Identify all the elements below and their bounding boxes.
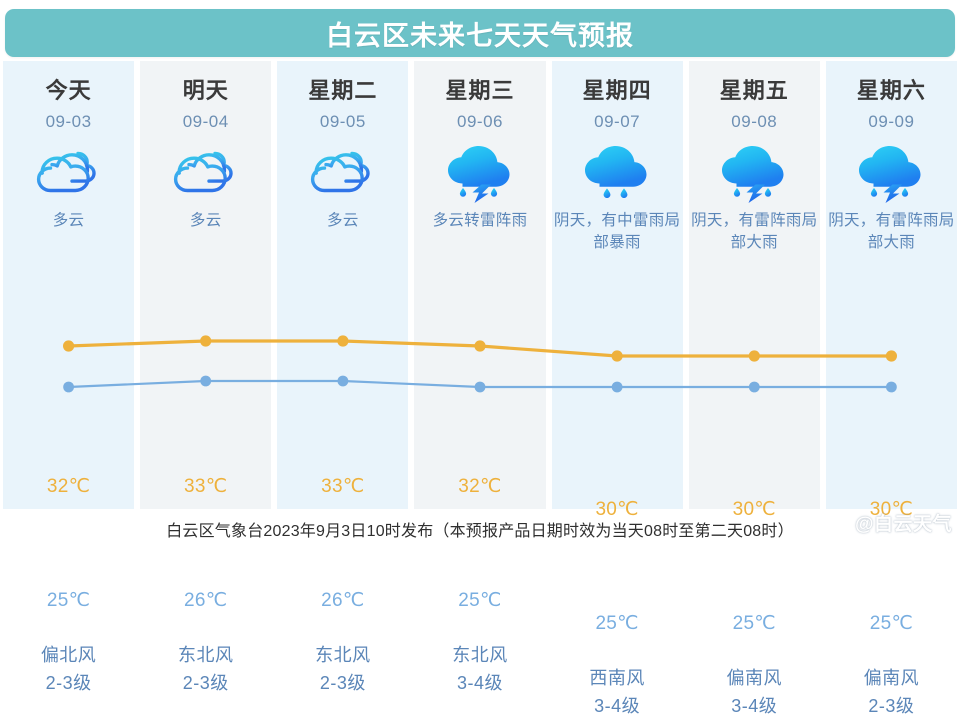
low-temperature: 25℃ xyxy=(0,589,137,612)
forecast-day-column[interactable]: 今天 09-03 多云 32℃ 25℃ 偏北风 2-3级 xyxy=(0,61,137,509)
watermark-label: @白云天气 xyxy=(855,509,952,536)
forecast-day-column[interactable]: 星期二 09-05 多云 33℃ 26℃ 东北风 2-3级 xyxy=(274,61,411,509)
day-name: 星期四 xyxy=(583,80,652,102)
day-name: 星期三 xyxy=(445,80,514,102)
wind-direction: 偏南风 xyxy=(686,665,823,693)
thunderstorm-icon xyxy=(711,141,797,203)
wind-level: 2-3级 xyxy=(823,693,960,721)
wind-info: 西南风 3-4级 xyxy=(549,665,686,721)
partly-cloudy-icon xyxy=(163,143,249,201)
weather-condition: 多云转雷阵雨 xyxy=(416,210,544,232)
wind-info: 偏南风 2-3级 xyxy=(823,665,960,721)
forecast-day-column[interactable]: 星期三 09-06 多云转雷阵雨 32℃ 25℃ 东北风 3-4级 xyxy=(411,61,548,509)
high-temperature: 33℃ xyxy=(274,475,411,498)
weather-icon-wrapper xyxy=(686,141,823,203)
title-bar: 白云区未来七天天气预报 xyxy=(5,9,955,57)
forecast-day-column[interactable]: 星期四 09-07 阴天，有中雷雨局部暴雨 30℃ 25℃ 西南风 3-4级 xyxy=(549,61,686,509)
page-title: 白云区未来七天天气预报 xyxy=(326,14,634,53)
weather-icon-wrapper xyxy=(549,141,686,203)
thunderstorm-icon xyxy=(437,141,523,203)
weather-condition: 阴天，有雷阵雨局部大雨 xyxy=(690,210,818,255)
weibo-logo-icon xyxy=(825,512,851,534)
low-temperature: 25℃ xyxy=(686,612,823,635)
wind-info: 东北风 3-4级 xyxy=(411,642,548,698)
day-name: 明天 xyxy=(183,80,229,102)
forecast-day-column[interactable]: 星期五 09-08 阴天，有雷阵雨局部大雨 30℃ 25℃ 偏南风 xyxy=(686,61,823,509)
wind-direction: 东北风 xyxy=(411,642,548,670)
day-name: 星期五 xyxy=(720,80,789,102)
wind-level: 3-4级 xyxy=(686,693,823,721)
high-temperature: 30℃ xyxy=(549,498,686,521)
weather-condition: 多云 xyxy=(279,210,407,232)
day-date: 09-08 xyxy=(731,113,777,130)
high-temperature: 32℃ xyxy=(411,475,548,498)
wind-direction: 西南风 xyxy=(549,665,686,693)
wind-info: 偏北风 2-3级 xyxy=(0,642,137,698)
wind-level: 2-3级 xyxy=(274,670,411,698)
day-date: 09-03 xyxy=(46,113,92,130)
wind-level: 2-3级 xyxy=(137,670,274,698)
weather-icon-wrapper xyxy=(823,141,960,203)
weather-icon-wrapper xyxy=(0,141,137,203)
wind-direction: 偏南风 xyxy=(823,665,960,693)
partly-cloudy-icon xyxy=(300,143,386,201)
wind-direction: 偏北风 xyxy=(0,642,137,670)
forecast-day-column[interactable]: 星期六 09-09 阴天，有雷阵雨局部大雨 30℃ 25℃ 偏南风 xyxy=(823,61,960,509)
day-date: 09-04 xyxy=(183,113,229,130)
weather-forecast-page: 白云区未来七天天气预报 今天 09-03 多云 32℃ 25℃ 偏北风 xyxy=(0,0,960,546)
wind-level: 3-4级 xyxy=(411,670,548,698)
day-date: 09-05 xyxy=(320,113,366,130)
day-name: 星期二 xyxy=(308,80,377,102)
low-temperature: 25℃ xyxy=(823,612,960,635)
wind-direction: 东北风 xyxy=(137,642,274,670)
forecast-day-column[interactable]: 明天 09-04 多云 33℃ 26℃ 东北风 2-3级 xyxy=(137,61,274,509)
day-date: 09-07 xyxy=(594,113,640,130)
wind-level: 2-3级 xyxy=(0,670,137,698)
wind-info: 东北风 2-3级 xyxy=(274,642,411,698)
weather-icon-wrapper xyxy=(137,141,274,203)
day-date: 09-09 xyxy=(868,113,914,130)
low-temperature: 25℃ xyxy=(411,589,548,612)
day-name: 星期六 xyxy=(857,80,926,102)
day-date: 09-06 xyxy=(457,113,503,130)
day-name: 今天 xyxy=(46,80,92,102)
wind-info: 偏南风 3-4级 xyxy=(686,665,823,721)
weather-condition: 多云 xyxy=(142,210,270,232)
weather-icon-wrapper xyxy=(274,141,411,203)
forecast-columns: 今天 09-03 多云 32℃ 25℃ 偏北风 2-3级 明天 xyxy=(0,61,960,509)
wind-level: 3-4级 xyxy=(549,693,686,721)
high-temperature: 30℃ xyxy=(686,498,823,521)
weibo-watermark: @白云天气 xyxy=(825,509,952,536)
weather-condition: 阴天，有雷阵雨局部大雨 xyxy=(827,210,955,255)
wind-info: 东北风 2-3级 xyxy=(137,642,274,698)
partly-cloudy-icon xyxy=(26,143,112,201)
weather-condition: 阴天，有中雷雨局部暴雨 xyxy=(553,210,681,255)
low-temperature: 25℃ xyxy=(549,612,686,635)
thunderstorm-icon xyxy=(848,141,934,203)
wind-direction: 东北风 xyxy=(274,642,411,670)
weather-condition: 多云 xyxy=(5,210,133,232)
high-temperature: 33℃ xyxy=(137,475,274,498)
high-temperature: 32℃ xyxy=(0,475,137,498)
low-temperature: 26℃ xyxy=(274,589,411,612)
low-temperature: 26℃ xyxy=(137,589,274,612)
rain-icon xyxy=(574,141,660,203)
weather-icon-wrapper xyxy=(411,141,548,203)
